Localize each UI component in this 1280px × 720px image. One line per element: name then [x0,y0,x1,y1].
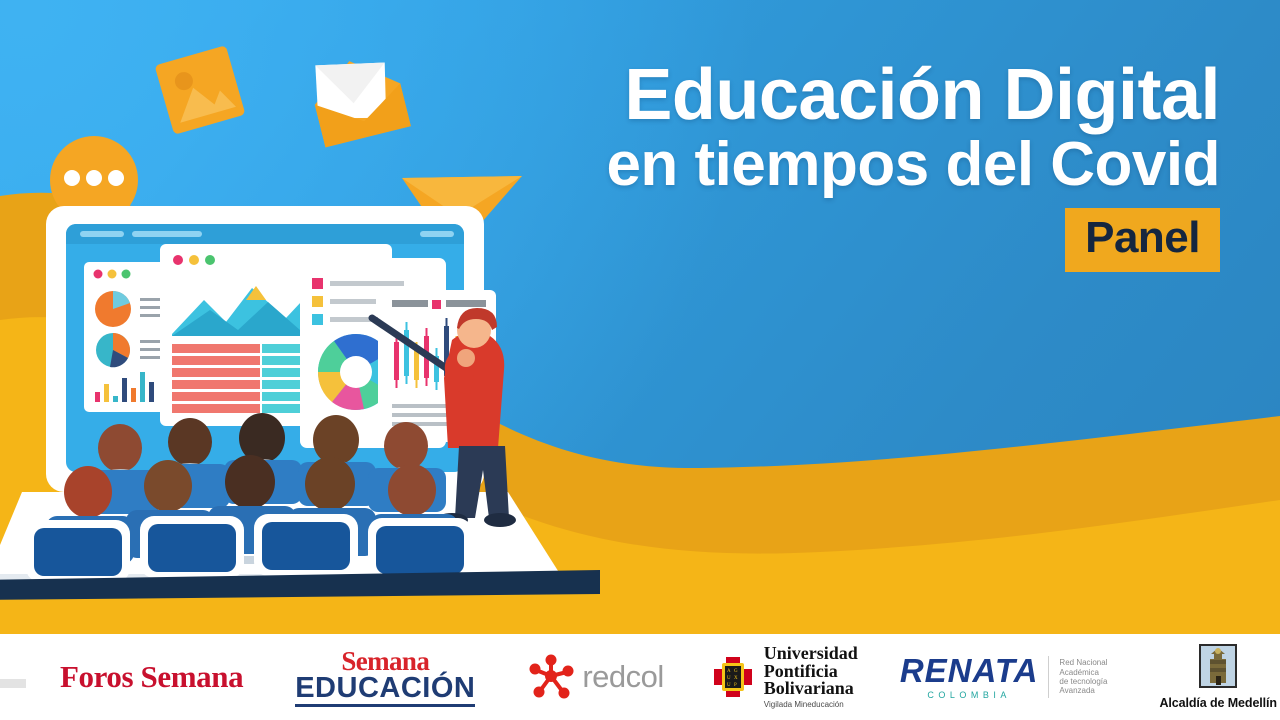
event-promo-banner: Educación Digital en tiempos del Covid P… [0,0,1280,720]
hero-background: Educación Digital en tiempos del Covid P… [0,0,1280,634]
envelope-icon [306,47,411,148]
upb-crest-icon: AG UX UP [710,653,756,701]
title-line-2: en tiempos del Covid [560,136,1220,194]
renata-tagline-1: Red Nacional [1059,658,1107,667]
svg-text:G: G [734,669,738,674]
panel-badge-wrapper: Panel [560,208,1220,272]
logo-foros-semana-text: Foros Semana [60,659,243,695]
logo-cropped-bar [0,679,26,688]
renata-tagline-3: de tecnología [1059,677,1107,686]
logo-renata: RENATA COLOMBIA Red Nacional Académica d… [900,654,1108,700]
logo-universidad-pontificia-bolivariana: AG UX UP Universidad Pontificia Bolivari… [710,645,858,709]
title-block: Educación Digital en tiempos del Covid P… [560,62,1220,272]
upb-subtitle: Vigilada Mineducación [764,701,858,709]
svg-text:U: U [727,683,731,688]
renata-tagline-4: Avanzada [1059,686,1107,695]
svg-text:U: U [727,676,731,681]
panel-badge: Panel [1065,208,1220,272]
renata-country: COLOMBIA [900,691,1039,700]
logo-semana-word: Semana [295,648,475,675]
logo-semana-educacion: Semana EDUCACIÓN [295,648,475,707]
title-line-1: Educación Digital [560,62,1220,130]
logo-redcol-text: redcol [582,659,663,695]
logo-educacion-word: EDUCACIÓN [295,674,475,707]
upb-line-3: Bolivariana [764,680,858,698]
alcaldia-label: Alcaldía de Medellín [1159,696,1276,710]
renata-wordmark: RENATA [900,654,1039,687]
sponsor-logo-strip: niza. Foros Semana Semana EDUCACIÓN [0,634,1280,720]
renata-divider [1048,656,1049,698]
renata-tagline-2: Académica [1059,668,1107,677]
svg-text:A: A [727,669,731,674]
medellin-monument-icon [1199,644,1237,688]
image-card-icon [155,45,246,135]
svg-text:X: X [734,676,738,681]
renata-tagline: Red Nacional Académica de tecnología Ava… [1059,658,1107,696]
logo-alcaldia-de-medellin: Alcaldía de Medellín [1159,644,1276,710]
logo-redcol: redcol [527,654,663,700]
redcol-network-icon [527,654,575,700]
logo-foros-semana: Foros Semana [60,659,243,695]
logo-cropped: niza. [0,666,30,688]
svg-text:P: P [734,683,737,688]
